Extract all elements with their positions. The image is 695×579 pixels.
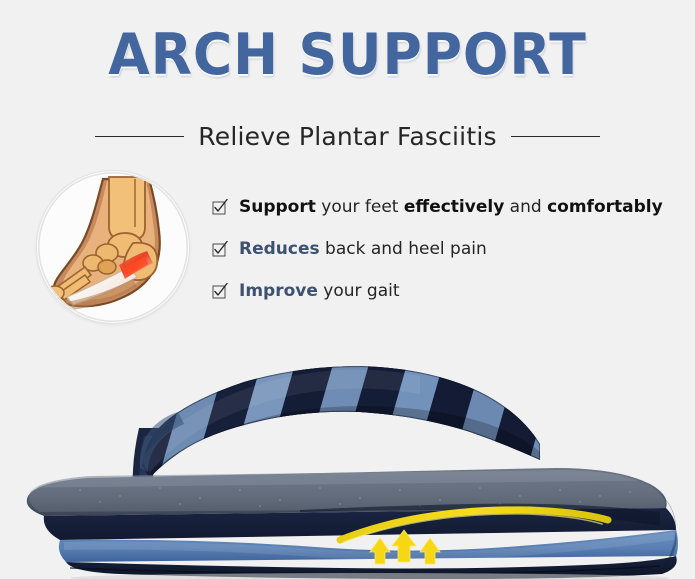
checkbox-checked-icon [212,283,228,299]
divider-left [95,136,184,137]
list-item-label: Support your feet effectively and comfor… [239,196,663,218]
foot-anatomy-illustration [36,170,190,324]
bullet-1-part-1: Support [239,197,316,217]
list-item: Reduces back and heel pain [212,238,682,262]
subtitle: Relieve Plantar Fasciitis [198,122,496,151]
bullet-1-part-2: your feet [316,197,404,217]
product-image-flip-flop [0,340,695,579]
list-item: Support your feet effectively and comfor… [212,196,682,220]
bullet-3-part-1: Improve [239,281,318,301]
checkbox-checked-icon [212,199,228,215]
bullet-3-part-2: your gait [318,281,400,301]
bullet-1-part-4: and [504,197,547,217]
list-item: Improve your gait [212,280,682,304]
infographic-canvas: ARCH SUPPORT Relieve Plantar Fasciitis [0,0,695,579]
bullet-1-part-3: effectively [404,197,504,217]
benefits-list: Support your feet effectively and comfor… [212,196,682,322]
subtitle-row: Relieve Plantar Fasciitis [95,118,600,154]
bullet-2-part-2: back and heel pain [320,239,487,259]
bullet-1-part-5: comfortably [547,197,663,217]
bullet-2-part-1: Reduces [239,239,320,259]
list-item-label: Reduces back and heel pain [239,238,487,260]
page-title: ARCH SUPPORT [21,22,674,88]
divider-right [511,136,600,137]
list-item-label: Improve your gait [239,280,400,302]
checkbox-checked-icon [212,241,228,257]
